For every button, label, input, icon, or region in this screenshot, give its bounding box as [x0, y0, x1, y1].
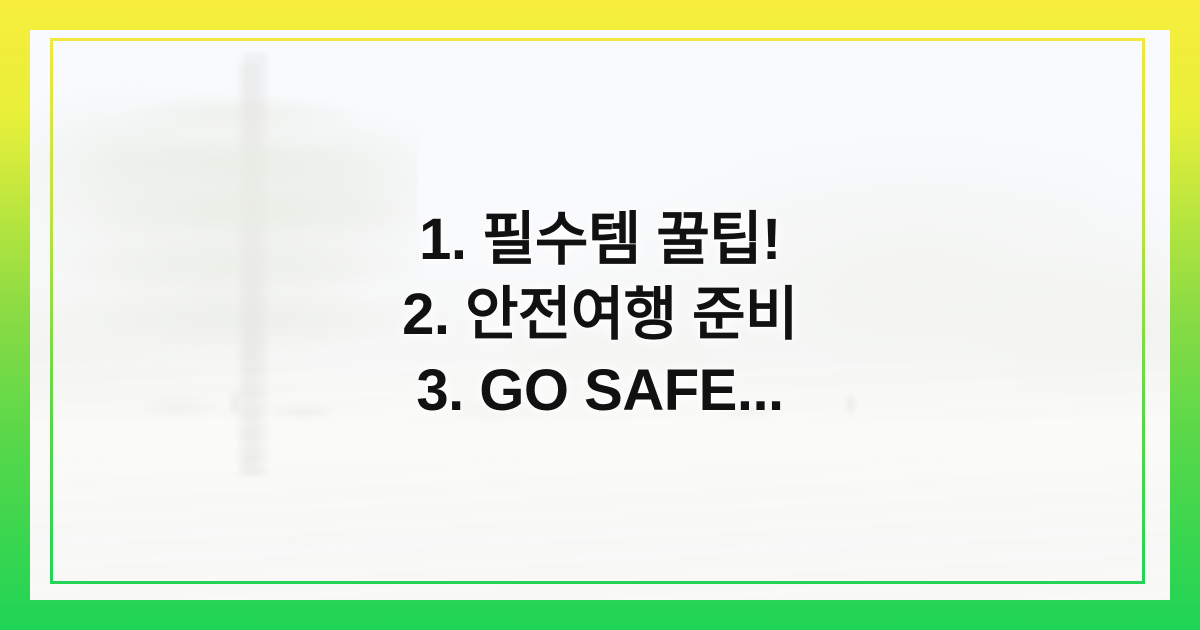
headline-block: 1. 필수템 꿀팁! 2. 안전여행 준비 3. GO SAFE... [0, 202, 1200, 428]
headline-line-1: 1. 필수템 꿀팁! [90, 202, 1110, 277]
thumbnail-card: 1. 필수템 꿀팁! 2. 안전여행 준비 3. GO SAFE... [0, 0, 1200, 630]
headline-line-3: 3. GO SAFE... [90, 353, 1110, 428]
headline-line-2: 2. 안전여행 준비 [90, 277, 1110, 352]
